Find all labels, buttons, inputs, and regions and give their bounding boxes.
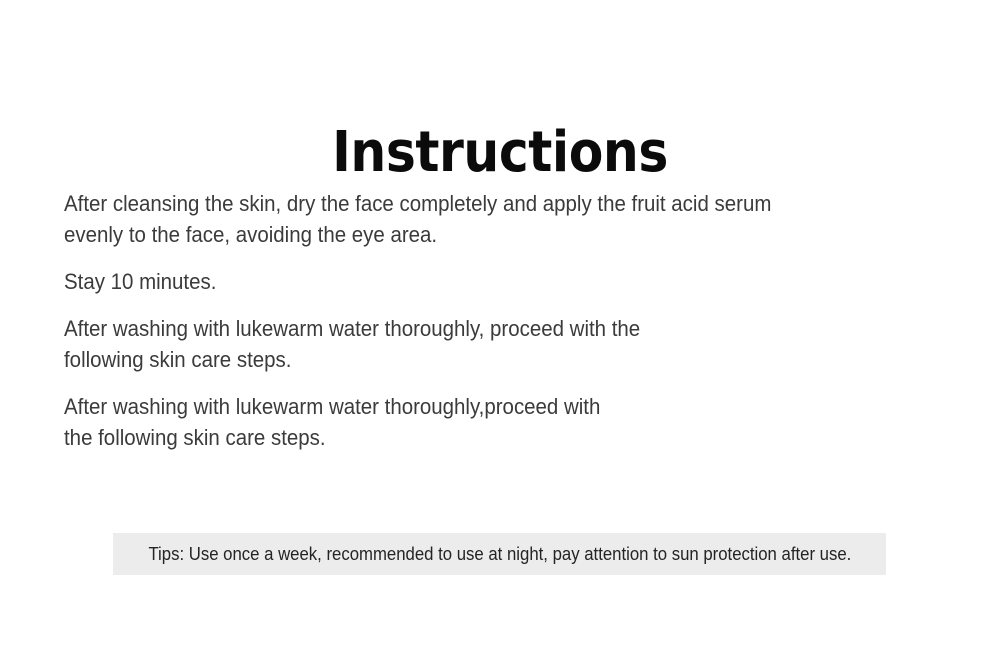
instruction-paragraph-3: After washing with lukewarm water thorou… xyxy=(64,313,855,375)
instructions-page: Instructions After cleansing the skin, d… xyxy=(0,0,1000,656)
instruction-paragraph-1: After cleansing the skin, dry the face c… xyxy=(64,188,855,250)
tips-text: Tips: Use once a week, recommended to us… xyxy=(148,544,851,564)
instructions-body: After cleansing the skin, dry the face c… xyxy=(64,188,914,453)
instruction-paragraph-2: Stay 10 minutes. xyxy=(64,266,855,297)
tips-banner: Tips: Use once a week, recommended to us… xyxy=(113,533,886,575)
page-title: Instructions xyxy=(50,122,950,184)
instruction-paragraph-4: After washing with lukewarm water thorou… xyxy=(64,391,855,453)
